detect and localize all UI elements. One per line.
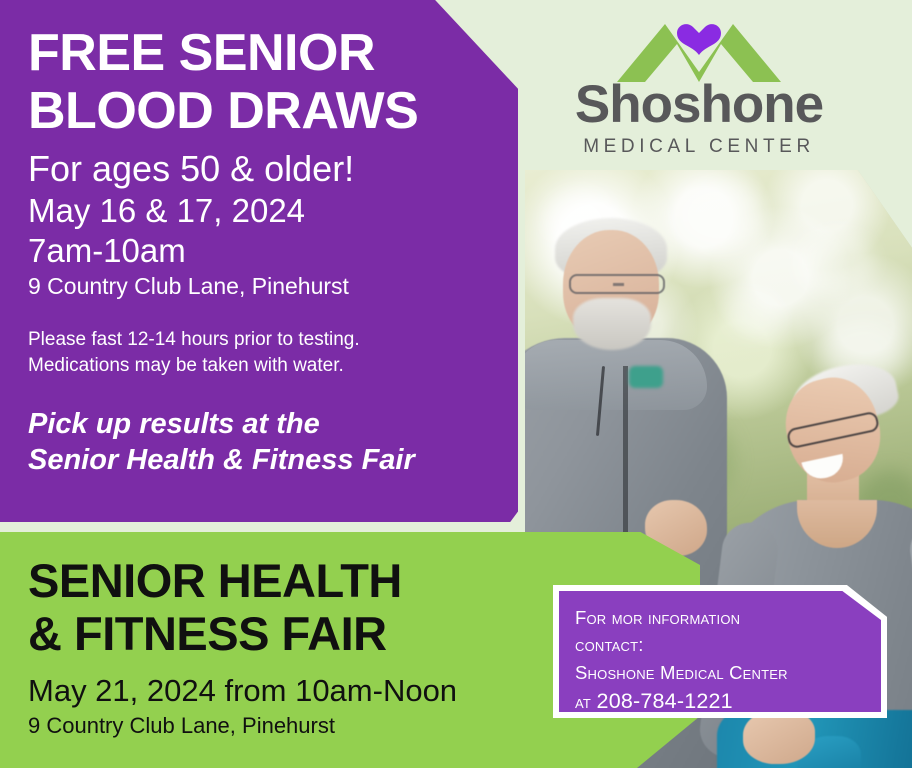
man-hood [525,340,707,410]
man-shirt [629,366,663,388]
contact-phone-prefix: at [575,692,597,713]
contact-organization: Shoshone Medical Center [575,659,881,686]
pickup-results-line2: Senior Health & Fitness Fair [28,442,518,478]
contact-box-border: For mor information contact: Shoshone Me… [553,585,887,718]
logo-tagline: MEDICAL CENTER [563,136,835,158]
man-glasses [569,274,665,294]
blood-draws-headline-line1: FREE SENIOR [28,24,518,82]
blood-draws-dates: May 16 & 17, 2024 [28,191,518,231]
shoshone-medical-center-logo: Shoshone MEDICAL CENTER [563,20,835,150]
fasting-note-line1: Please fast 12-14 hours prior to testing… [28,327,518,353]
blood-draws-time: 7am-10am [28,231,518,271]
man-beard [573,298,651,350]
contact-line-2: contact: [575,631,881,658]
pickup-results-line1: Pick up results at the [28,406,518,442]
contact-line-1: For mor information [575,604,881,631]
blood-draws-panel: FREE SENIOR BLOOD DRAWS For ages 50 & ol… [0,0,518,522]
foliage-bokeh [795,230,875,296]
blood-draws-address: 9 Country Club Lane, Pinehurst [28,272,518,301]
blood-draws-ages: For ages 50 & older! [28,148,518,190]
flyer-canvas: FREE SENIOR BLOOD DRAWS For ages 50 & ol… [0,0,912,768]
woman-hand [743,710,815,764]
contact-box: For mor information contact: Shoshone Me… [559,591,881,712]
foliage-bokeh [675,180,765,250]
logo-name: Shoshone [563,80,835,131]
fasting-note-line2: Medications may be taken with water. [28,353,518,379]
contact-phone-number: 208-784-1221 [597,689,733,713]
foliage-bokeh [725,290,783,340]
blood-draws-headline-line2: BLOOD DRAWS [28,82,518,140]
mountain-heart-icon [613,20,785,82]
contact-phone-row: at 208-784-1221 [575,686,881,718]
